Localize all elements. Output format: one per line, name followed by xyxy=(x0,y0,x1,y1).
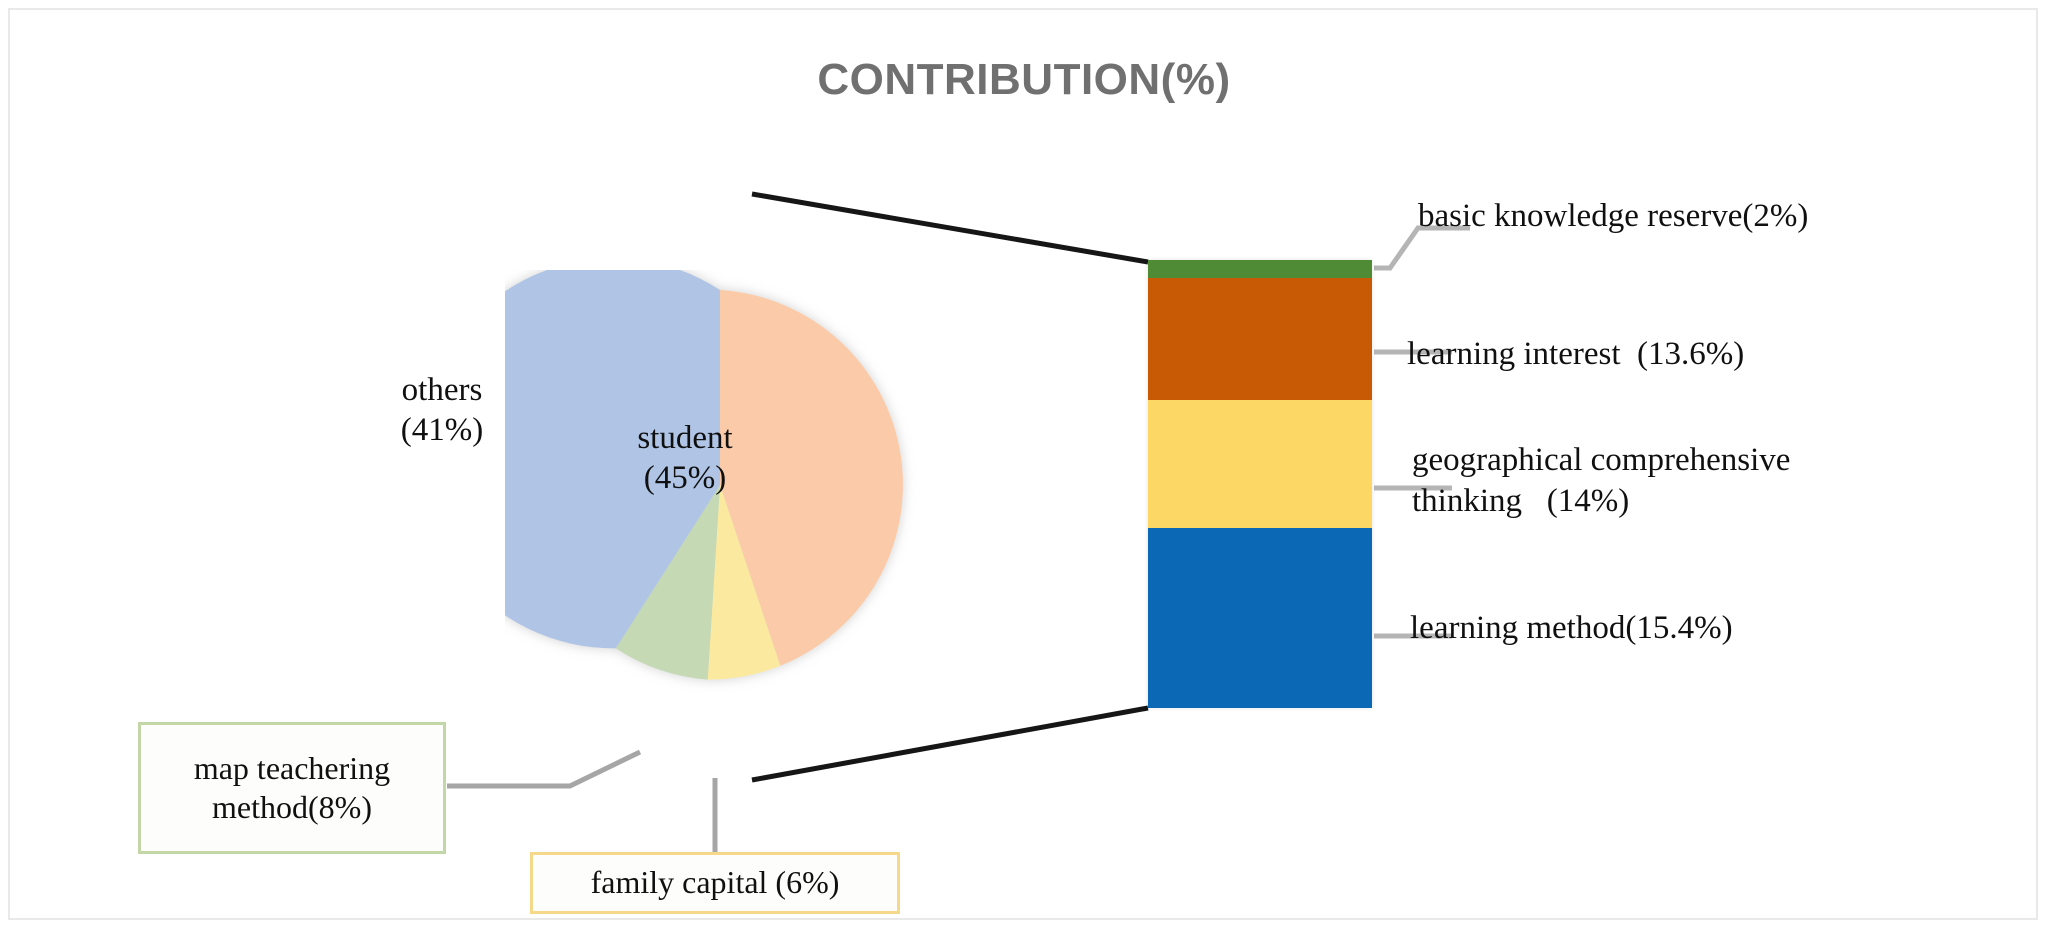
callout-map-line1: map teachering xyxy=(194,749,390,788)
pie-label-others-line1: others xyxy=(352,370,532,410)
callout-map-teachering-method[interactable]: map teachering method(8%) xyxy=(138,722,446,854)
callout-family-capital[interactable]: family capital (6%) xyxy=(530,852,900,914)
bar-segment-basic-knowledge-reserve[interactable] xyxy=(1148,260,1372,278)
chart-canvas: CONTRIBUTION(%) xyxy=(0,0,2048,930)
bar-segment-geographical-comprehensive-thinking[interactable] xyxy=(1148,400,1372,528)
pie-label-student: student (45%) xyxy=(580,418,790,499)
pie-label-others-line2: (41%) xyxy=(352,410,532,450)
pie-label-others: others (41%) xyxy=(352,370,532,451)
pie-label-student-line2: (45%) xyxy=(580,458,790,498)
legend-label-learning-interest: learning interest (13.6%) xyxy=(1407,334,1744,375)
legend-label-learning-method: learning method(15.4%) xyxy=(1410,608,1733,649)
legend-label-geographical-comprehensive-thinking: geographical comprehensive thinking (14%… xyxy=(1412,440,1790,523)
pie-label-student-line1: student xyxy=(580,418,790,458)
bar-segment-learning-interest[interactable] xyxy=(1148,278,1372,400)
bar-segment-learning-method[interactable] xyxy=(1148,528,1372,708)
callout-map-line2: method(8%) xyxy=(212,788,372,827)
stacked-bar xyxy=(1148,260,1372,708)
callout-family-line1: family capital (6%) xyxy=(591,863,840,902)
legend-label-basic-knowledge-reserve: basic knowledge reserve(2%) xyxy=(1418,196,1808,237)
